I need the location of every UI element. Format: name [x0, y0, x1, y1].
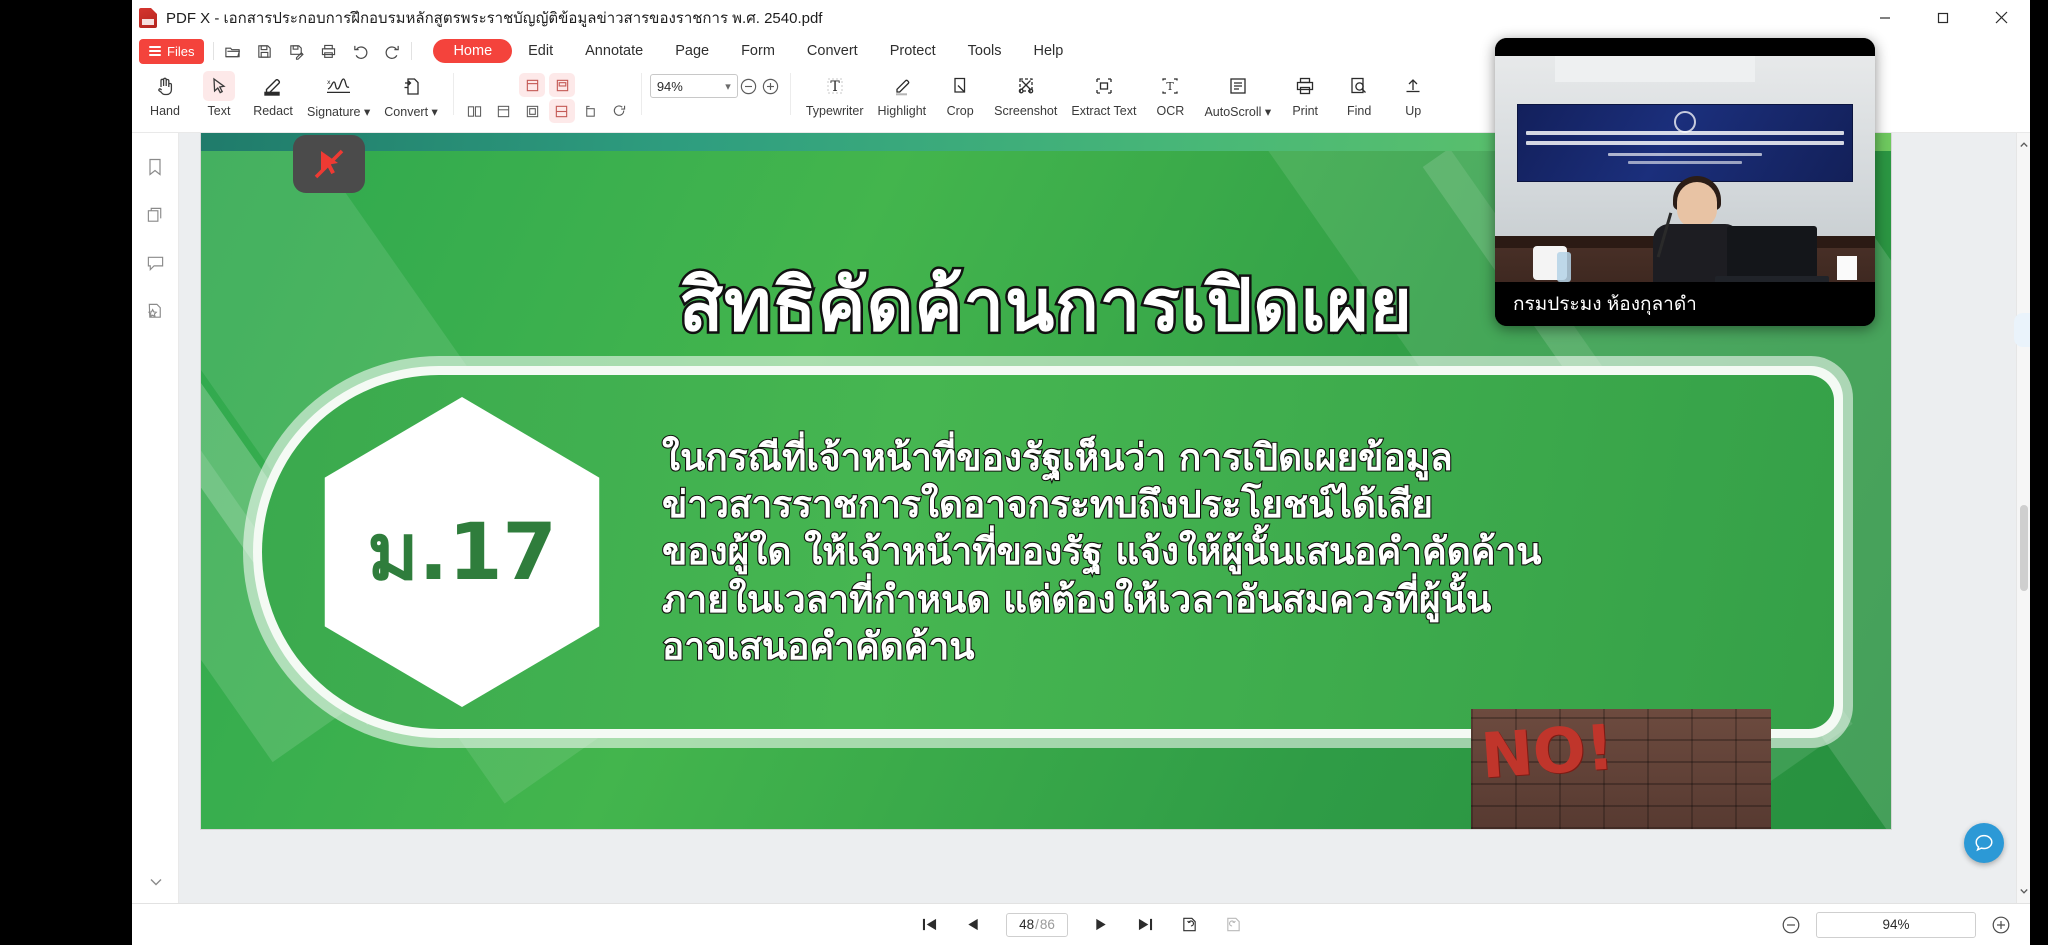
convert-text: Convert [384, 105, 428, 119]
ocr-icon: T [1159, 71, 1181, 101]
tab-protect[interactable]: Protect [874, 40, 952, 62]
current-page-value: 48 [1019, 917, 1034, 932]
tab-edit-label: Edit [528, 43, 553, 59]
save-as-icon[interactable] [287, 42, 306, 61]
attachment-stamp-icon[interactable] [143, 299, 167, 323]
next-page-icon[interactable] [1090, 915, 1112, 935]
tab-annotate-label: Annotate [585, 43, 643, 59]
chat-support-button[interactable] [1964, 823, 2004, 863]
slide-callout-panel: ม.17 ในกรณีที่เจ้าหน้าที่ของรัฐเห็นว่า ก… [253, 366, 1843, 738]
ribbon-signature-tool[interactable]: x Signature ▾ [300, 67, 377, 119]
pdf-x-logo-icon [139, 8, 157, 28]
tab-annotate[interactable]: Annotate [569, 40, 659, 62]
ribbon-signature-label: Signature ▾ [307, 104, 370, 119]
webcam-video [1495, 56, 1875, 304]
ribbon-autoscroll-label: AutoScroll ▾ [1204, 104, 1271, 119]
vertical-scrollbar-thumb[interactable] [2020, 505, 2028, 591]
ribbon-tabs: Home Edit Annotate Page Form Convert Pro… [433, 39, 1079, 63]
scroll-up-icon[interactable] [2017, 135, 2030, 155]
tab-protect-label: Protect [890, 43, 936, 59]
slide-body-line-2: ข่าวสารราชการใดอาจกระทบถึงประโยชน์ได้เสี… [662, 481, 1794, 528]
ribbon-find-label: Find [1347, 104, 1371, 118]
zoom-level-select[interactable]: 94% ▾ [650, 74, 738, 98]
slide-photo-word: NO! [1479, 710, 1617, 792]
comment-icon[interactable] [143, 251, 167, 275]
close-button[interactable] [1972, 0, 2030, 35]
webcam-ceiling-light [1555, 56, 1755, 82]
next-view-icon[interactable] [1222, 915, 1244, 935]
total-pages-value: 86 [1040, 917, 1055, 932]
continuous-page-icon[interactable] [549, 73, 575, 97]
ribbon-text-label: Text [208, 104, 231, 118]
quick-access-toolbar [223, 42, 402, 61]
status-zoom-out-button[interactable] [1780, 914, 1802, 936]
ribbon-convert-label: Convert ▾ [384, 104, 438, 119]
tab-tools[interactable]: Tools [952, 40, 1018, 62]
svg-text:x: x [327, 79, 331, 86]
ribbon-print-label: Print [1292, 104, 1318, 118]
slide-body-line-1: ในกรณีที่เจ้าหน้าที่ของรัฐเห็นว่า การเปิ… [662, 434, 1794, 481]
ribbon-extract-text-tool[interactable]: Extract Text [1064, 67, 1143, 118]
tab-help-label: Help [1034, 43, 1064, 59]
tab-home-label: Home [453, 43, 492, 59]
ribbon-find-tool[interactable]: Find [1332, 67, 1386, 118]
ribbon-upload-tool[interactable]: Up [1386, 67, 1440, 118]
two-page-icon[interactable] [462, 99, 488, 123]
autoscroll-icon [1227, 71, 1249, 101]
ribbon-ocr-label: OCR [1157, 104, 1185, 118]
undo-icon[interactable] [351, 42, 370, 61]
ribbon-divider-3 [790, 73, 791, 115]
webcam-paper-sheet [1837, 256, 1857, 280]
hand-icon [154, 71, 176, 101]
ribbon-extract-text-label: Extract Text [1071, 104, 1136, 118]
ribbon-redact-label: Redact [253, 104, 293, 118]
chevron-down-icon: ▾ [364, 105, 370, 119]
section-badge-hexagon: ม.17 [316, 397, 608, 707]
status-bar: 48 / 86 [132, 903, 2030, 945]
ribbon-highlight-label: Highlight [877, 104, 926, 118]
title-bar: PDF X - เอกสารประกอบการฝึกอบรมหลักสูตรพร… [132, 0, 2030, 35]
tab-edit[interactable]: Edit [512, 40, 569, 62]
hamburger-icon [149, 46, 161, 56]
find-icon [1348, 71, 1370, 101]
chevron-down-icon: ▾ [432, 105, 438, 119]
redo-icon[interactable] [383, 42, 402, 61]
ribbon-crop-label: Crop [947, 104, 974, 118]
slide-photo: NO! [1471, 709, 1771, 829]
view-mode-group [519, 67, 575, 97]
ribbon-typewriter-label: Typewriter [806, 104, 864, 118]
status-zoom-in-button[interactable] [1990, 914, 2012, 936]
ribbon-convert-tool[interactable]: Convert ▾ [377, 67, 445, 119]
window-controls [1856, 0, 2030, 35]
convert-doc-icon [399, 71, 423, 101]
section-badge-wrapper: ม.17 [262, 375, 662, 729]
ribbon-divider-2 [641, 73, 642, 115]
webcam-caption: กรมประมง ห้องกุลาดำ [1495, 282, 1875, 326]
window-title: PDF X - เอกสารประกอบการฝึกอบรมหลักสูตรพร… [166, 6, 822, 30]
status-zoom-value[interactable]: 94% [1816, 912, 1976, 938]
letterbox-left [0, 0, 132, 945]
collapse-rail-button[interactable] [132, 873, 179, 891]
select-text-icon [203, 71, 235, 101]
slide-body-text: ในกรณีที่เจ้าหน้าที่ของรัฐเห็นว่า การเปิ… [662, 434, 1834, 671]
ribbon-divider-1 [453, 73, 454, 115]
ribbon-screenshot-label: Screenshot [994, 104, 1057, 118]
ribbon-hand-tool[interactable]: Hand [138, 67, 192, 118]
files-button-label: Files [167, 44, 194, 59]
rotate-right-icon[interactable] [607, 99, 633, 123]
side-panel-tab[interactable] [2014, 313, 2030, 347]
bookmark-icon[interactable] [143, 155, 167, 179]
webcam-screen-seal-icon [1674, 111, 1696, 133]
tab-home[interactable]: Home [433, 39, 512, 63]
webcam-overlay-panel[interactable]: กรมประมง ห้องกุลาดำ [1495, 38, 1875, 326]
webcam-screen-line-3 [1608, 153, 1762, 156]
autoscroll-text: AutoScroll [1204, 105, 1261, 119]
first-page-icon[interactable] [918, 915, 940, 935]
tab-page-label: Page [675, 43, 709, 59]
cursor-overlay-indicator [293, 135, 365, 193]
minimize-button[interactable] [1856, 0, 1914, 35]
chevron-down-icon: ▾ [1265, 105, 1271, 119]
svg-text:T: T [830, 79, 840, 95]
print-icon[interactable] [319, 42, 338, 61]
upload-icon [1402, 71, 1424, 101]
ribbon-redact-tool[interactable]: Redact [246, 67, 300, 118]
letterbox-right [2030, 0, 2048, 945]
status-zoom-controls: 94% [1780, 912, 2012, 938]
screenshot-scissors-icon [1015, 71, 1037, 101]
rotate-left-icon[interactable] [578, 99, 604, 123]
slide-body-line-5: อาจเสนอคำคัดค้าน [662, 623, 1794, 670]
section-badge-label: ม.17 [367, 490, 557, 614]
webcam-top-letterbox [1495, 38, 1875, 56]
ribbon-print-tool[interactable]: Print [1278, 67, 1332, 118]
ribbon-hand-label: Hand [150, 104, 180, 118]
tab-tools-label: Tools [968, 43, 1002, 59]
ribbon-screenshot-tool[interactable]: Screenshot [987, 67, 1064, 118]
webcam-screen-line-2 [1526, 141, 1844, 145]
ribbon-typewriter-tool[interactable]: T Typewriter [799, 67, 871, 118]
scroll-down-icon[interactable] [2017, 881, 2030, 901]
menu-divider-2 [411, 42, 412, 60]
open-folder-icon[interactable] [223, 42, 242, 61]
ribbon-highlight-tool[interactable]: Highlight [870, 67, 933, 118]
slide-body-line-4: ภายในเวลาที่กำหนด แต่ต้องให้เวลาอันสมควร… [662, 576, 1794, 623]
webcam-water-bottle [1557, 252, 1571, 282]
slide-body-line-3: ของผู้ใด ให้เจ้าหน้าที่ของรัฐ แจ้งให้ผู้… [662, 528, 1794, 575]
slide-callout-inner: ม.17 ในกรณีที่เจ้าหน้าที่ของรัฐเห็นว่า ก… [262, 375, 1834, 729]
typewriter-icon: T [824, 71, 846, 101]
page-number-input[interactable]: 48 / 86 [1006, 913, 1068, 937]
print-icon [1294, 71, 1316, 101]
files-button[interactable]: Files [139, 39, 204, 64]
extract-text-icon [1093, 71, 1115, 101]
previous-view-icon[interactable] [1178, 915, 1200, 935]
fit-page-icon[interactable] [520, 99, 546, 123]
last-page-icon[interactable] [1134, 915, 1156, 935]
ribbon-crop-tool[interactable]: Crop [933, 67, 987, 118]
ribbon-upload-label: Up [1405, 104, 1421, 118]
tab-form-label: Form [741, 43, 775, 59]
tab-help[interactable]: Help [1018, 40, 1080, 62]
signature-icon: x [325, 71, 353, 101]
save-icon[interactable] [255, 42, 274, 61]
tab-convert-label: Convert [807, 43, 858, 59]
page-separator: / [1035, 917, 1039, 932]
ribbon-ocr-tool[interactable]: T OCR [1143, 67, 1197, 118]
signature-text: Signature [307, 105, 361, 119]
left-side-rail [132, 133, 179, 903]
tab-page[interactable]: Page [659, 40, 725, 62]
chevron-down-icon: ▾ [725, 80, 731, 93]
crop-icon [949, 71, 971, 101]
zoom-level-value: 94% [657, 79, 683, 94]
maximize-button[interactable] [1914, 0, 1972, 35]
redact-highlighter-icon [261, 71, 285, 101]
tab-convert[interactable]: Convert [791, 40, 874, 62]
webcam-presentation-screen [1517, 104, 1853, 182]
webcam-speaker-head [1677, 182, 1717, 228]
webcam-laptop [1727, 226, 1817, 278]
page-navigation: 48 / 86 [918, 913, 1244, 937]
screen: PDF X - เอกสารประกอบการฝึกอบรมหลักสูตรพร… [0, 0, 2048, 945]
pages-thumbnail-icon[interactable] [143, 203, 167, 227]
webcam-screen-line-1 [1526, 131, 1844, 135]
svg-text:T: T [1167, 80, 1175, 93]
ribbon-select-text-tool[interactable]: Text [192, 67, 246, 118]
ribbon-autoscroll-tool[interactable]: AutoScroll ▾ [1197, 67, 1278, 119]
fit-width-icon[interactable] [549, 99, 575, 123]
webcam-screen-line-4 [1628, 161, 1742, 164]
highlight-icon [891, 71, 913, 101]
ribbon-zoom-in-button[interactable] [760, 75, 782, 97]
layout-toggle-group [462, 99, 633, 123]
single-page-icon[interactable] [519, 73, 545, 97]
tab-form[interactable]: Form [725, 40, 791, 62]
vertical-scrollbar[interactable] [2016, 133, 2030, 903]
status-zoom-text: 94% [1882, 917, 1909, 932]
ribbon-zoom-out-button[interactable] [738, 75, 760, 97]
menu-divider-1 [213, 42, 214, 60]
thumbnail-icon[interactable] [491, 99, 517, 123]
prev-page-icon[interactable] [962, 915, 984, 935]
